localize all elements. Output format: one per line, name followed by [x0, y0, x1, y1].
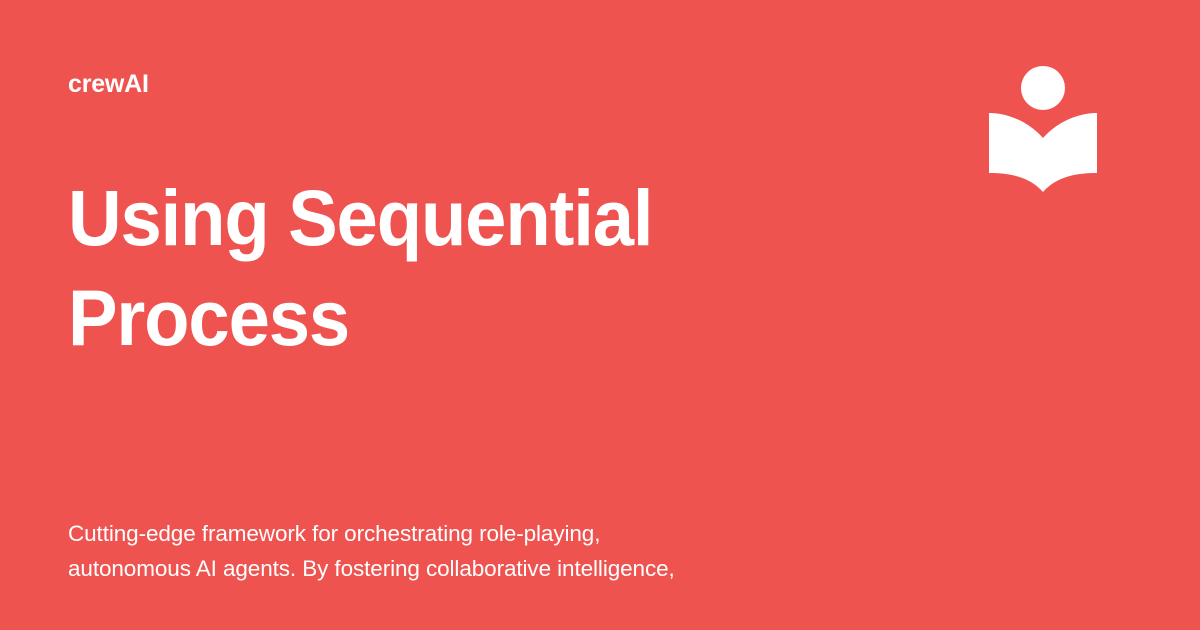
page-title: Using Sequential Process [68, 168, 876, 368]
reader-book-icon [986, 62, 1102, 196]
description-line-2: autonomous AI agents. By fostering colla… [68, 551, 968, 586]
description-line-1: Cutting-edge framework for orchestrating… [68, 516, 968, 551]
page-description: Cutting-edge framework for orchestrating… [68, 516, 968, 586]
brand-name: crewAI [68, 72, 149, 97]
og-card: crewAI Using Sequential Process Cutting-… [0, 0, 1200, 630]
